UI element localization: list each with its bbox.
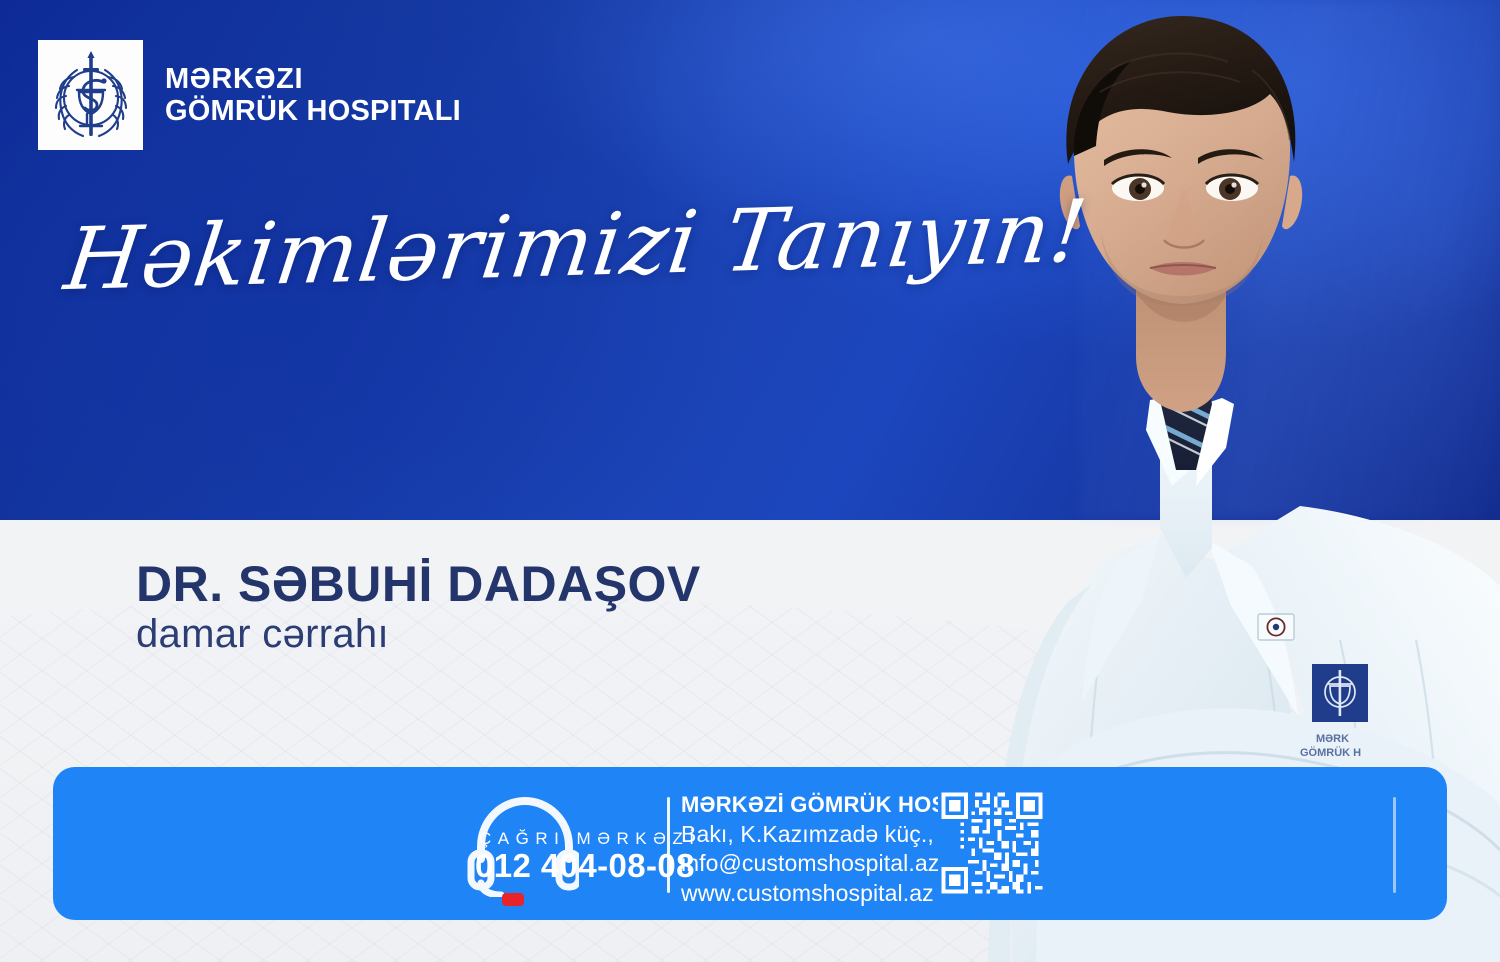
- doctor-name: DR. SƏBUHİ DADAŞOV: [136, 555, 701, 613]
- customs-hospital-emblem-icon: [38, 40, 143, 150]
- brand-name-line2: Gömrük Hospitalı: [165, 95, 461, 127]
- brand-logo-block: Mərkəzi Gömrük Hospitalı: [38, 40, 461, 150]
- brand-name-line1: Mərkəzi: [165, 63, 461, 95]
- call-center-number[interactable]: 012 404-08-08: [475, 847, 695, 885]
- contact-footer-bar: ÇAĞRI MƏRKƏZİ 012 404-08-08 MƏRKƏZİ GÖMR…: [53, 767, 1447, 920]
- qr-code-icon[interactable]: [938, 789, 1046, 897]
- footer-divider-right: [1393, 797, 1396, 893]
- mic-indicator-icon: [502, 893, 524, 906]
- background-light-streak: [1080, 0, 1500, 520]
- poster-canvas: Mərkəzi Gömrük Hospitalı Həkimlərimizi T…: [0, 0, 1500, 962]
- footer-divider-left: [667, 797, 670, 893]
- brand-name: Mərkəzi Gömrük Hospitalı: [165, 63, 461, 128]
- doctor-specialty: damar cərrahı: [136, 612, 389, 657]
